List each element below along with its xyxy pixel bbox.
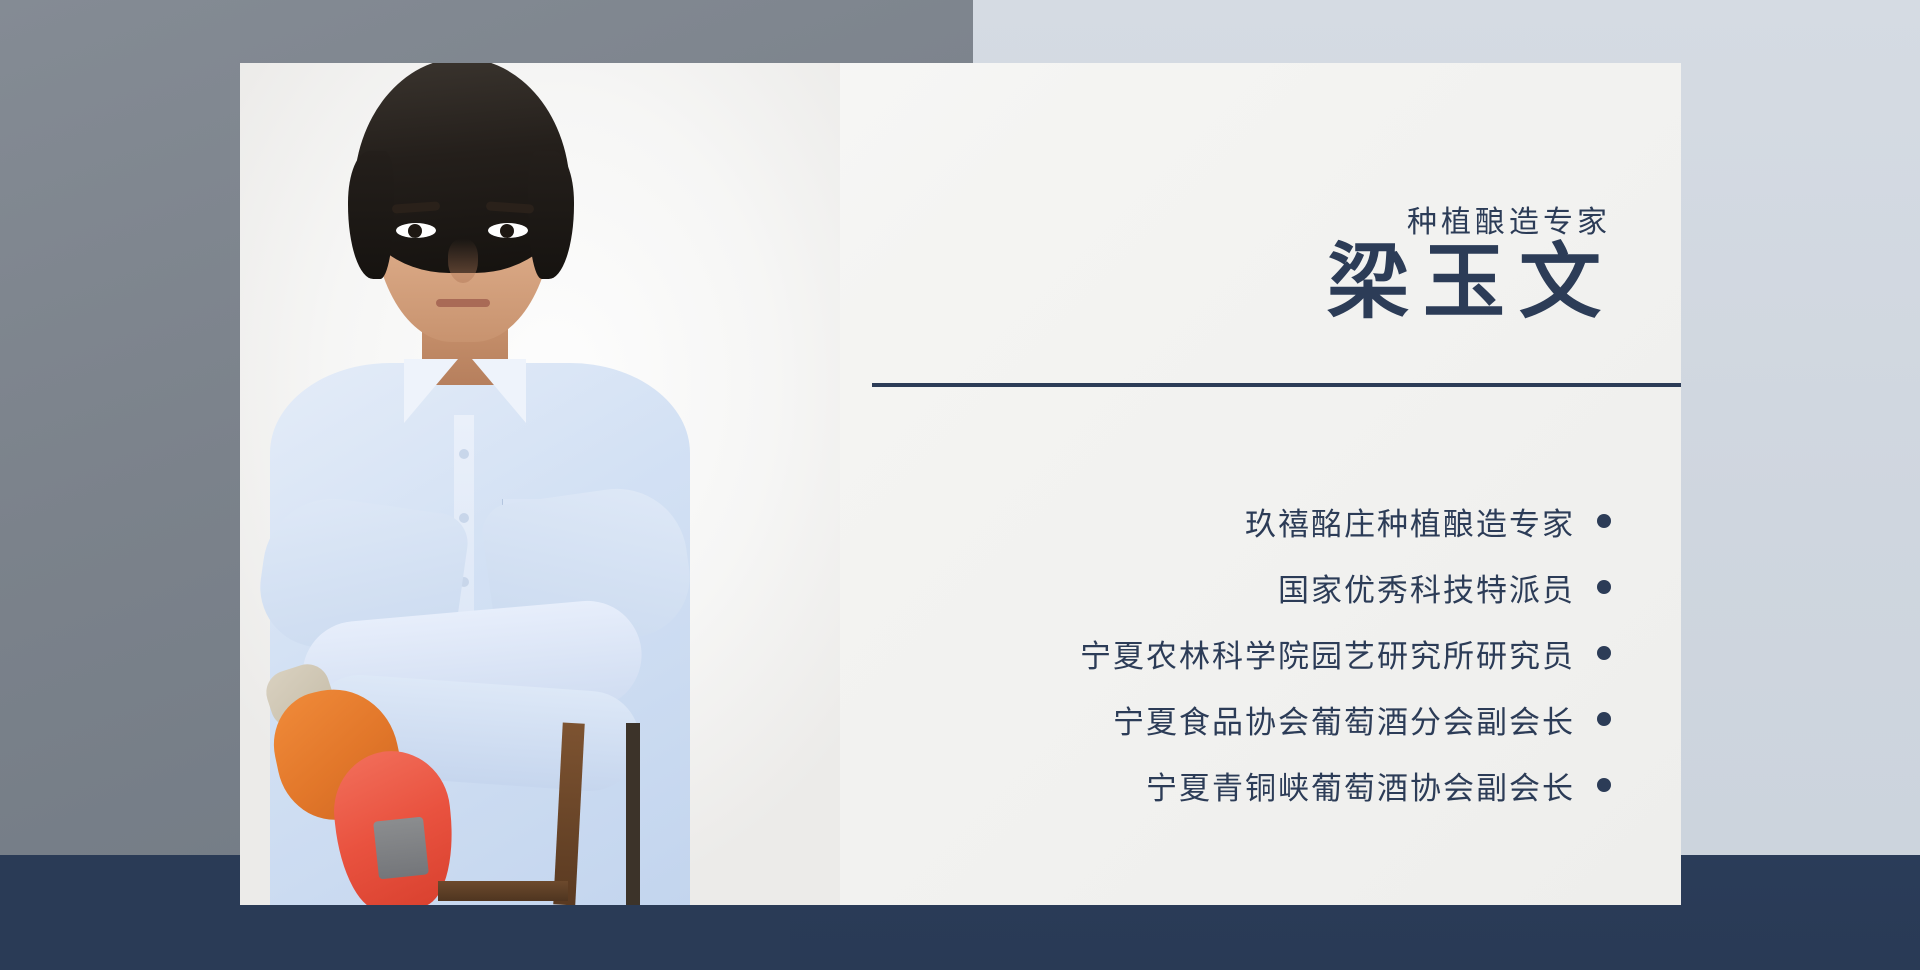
shirt-collar-right (472, 359, 526, 423)
pupil-right (500, 224, 514, 238)
list-item: 国家优秀科技特派员 (831, 554, 1611, 620)
eye-left (396, 223, 436, 238)
bullet-dot-icon (1597, 514, 1611, 528)
person-name: 梁玉文 (1327, 239, 1615, 328)
mouth (436, 299, 490, 307)
shirt-button (459, 513, 469, 523)
credentials-list: 玖禧酩庄种植酿造专家 国家优秀科技特派员 宁夏农林科学院园艺研究所研究员 宁夏食… (831, 488, 1611, 818)
pupil-left (408, 224, 422, 238)
bullet-dot-icon (1597, 778, 1611, 792)
bullet-dot-icon (1597, 580, 1611, 594)
tool-label (373, 817, 429, 880)
eye-right (488, 223, 528, 238)
list-item: 宁夏农林科学院园艺研究所研究员 (831, 620, 1611, 686)
shirt-button (459, 449, 469, 459)
card-content: 种植酿造专家 梁玉文 玖禧酩庄种植酿造专家 国家优秀科技特派员 宁夏农林科学院园… (840, 63, 1681, 905)
nose (448, 239, 478, 283)
list-item: 玖禧酩庄种植酿造专家 (831, 488, 1611, 554)
horizontal-divider (872, 383, 1681, 387)
credential-label: 玖禧酩庄种植酿造专家 (1245, 499, 1575, 544)
poster-canvas: 种植酿造专家 梁玉文 玖禧酩庄种植酿造专家 国家优秀科技特派员 宁夏农林科学院园… (0, 0, 1920, 970)
credential-label: 国家优秀科技特派员 (1278, 565, 1575, 610)
credential-label: 宁夏农林科学院园艺研究所研究员 (1080, 631, 1575, 676)
role-title: 种植酿造专家 (1407, 197, 1611, 241)
torso-shadow (626, 723, 640, 905)
belt (438, 881, 568, 901)
bullet-dot-icon (1597, 712, 1611, 726)
credential-label: 宁夏青铜峡葡萄酒协会副会长 (1146, 763, 1575, 808)
shirt-collar-left (404, 359, 458, 423)
list-item: 宁夏食品协会葡萄酒分会副会长 (831, 686, 1611, 752)
list-item: 宁夏青铜峡葡萄酒协会副会长 (831, 752, 1611, 818)
bullet-dot-icon (1597, 646, 1611, 660)
credential-label: 宁夏食品协会葡萄酒分会副会长 (1113, 697, 1575, 742)
profile-card: 种植酿造专家 梁玉文 玖禧酩庄种植酿造专家 国家优秀科技特派员 宁夏农林科学院园… (240, 63, 1681, 905)
portrait-photo (240, 63, 840, 905)
